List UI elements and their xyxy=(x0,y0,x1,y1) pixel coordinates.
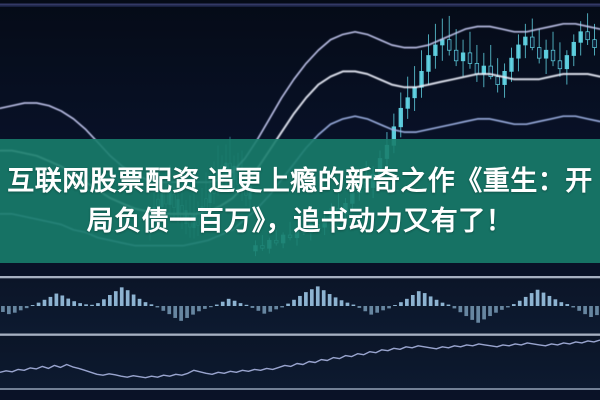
panel-divider-1 xyxy=(0,276,600,278)
headline-line-1: 互联网股票配资 追更上瘾的新奇之作《重生：开 xyxy=(7,161,593,201)
promo-banner-image: 互联网股票配资 追更上瘾的新奇之作《重生：开 局负债一百万》，追书动力又有了！ xyxy=(0,0,600,400)
trend-panel-bg xyxy=(0,336,600,388)
panel-divider-3 xyxy=(0,388,600,390)
top-divider-line xyxy=(0,4,600,6)
headline-banner: 互联网股票配资 追更上瘾的新奇之作《重生：开 局负债一百万》，追书动力又有了！ xyxy=(0,139,600,263)
headline-line-2: 局负债一百万》，追书动力又有了！ xyxy=(87,201,514,241)
top-divider-shadow xyxy=(0,6,600,7)
panel-divider-2 xyxy=(0,334,600,336)
